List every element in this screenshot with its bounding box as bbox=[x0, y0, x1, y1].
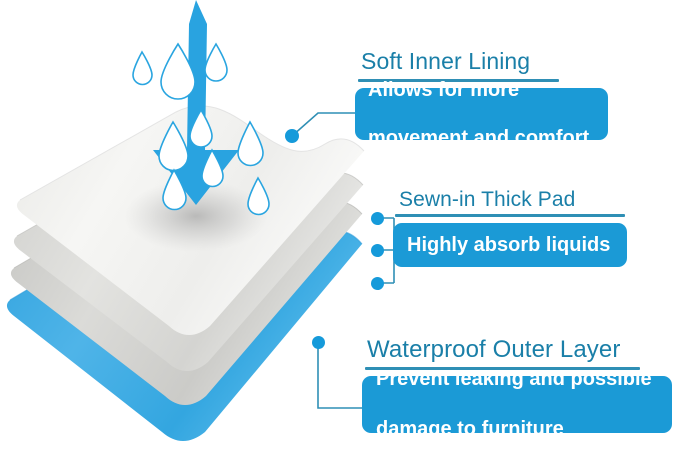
callout-text-line: Allows for more bbox=[368, 78, 608, 102]
anchor-dot-outer-layer bbox=[312, 336, 325, 349]
callout-text-line: Prevent leaking and possible bbox=[376, 367, 672, 392]
anchor-dot-pad-3 bbox=[371, 277, 384, 290]
callout-box-inner-lining: Allows for more movement and comfort bbox=[355, 88, 608, 140]
anchor-dot-pad-1 bbox=[371, 212, 384, 225]
callout-text-line: damage to furniture bbox=[376, 417, 672, 442]
callout-text-line: movement and comfort bbox=[368, 126, 608, 150]
anchor-dot-inner-lining bbox=[285, 129, 299, 143]
callout-heading-inner-lining: Soft Inner Lining bbox=[361, 48, 530, 75]
anchor-dot-pad-2 bbox=[371, 244, 384, 257]
callout-box-thick-pad: Highly absorb liquids bbox=[393, 223, 627, 267]
infographic-canvas: Soft Inner Lining Allows for more moveme… bbox=[0, 0, 679, 455]
callout-text-line: Highly absorb liquids bbox=[407, 234, 627, 257]
callout-box-outer-layer: Prevent leaking and possible damage to f… bbox=[362, 376, 672, 433]
callout-heading-outer-layer: Waterproof Outer Layer bbox=[367, 336, 620, 364]
callout-heading-thick-pad: Sewn-in Thick Pad bbox=[399, 188, 575, 212]
callout-rule-thick-pad bbox=[395, 214, 625, 217]
